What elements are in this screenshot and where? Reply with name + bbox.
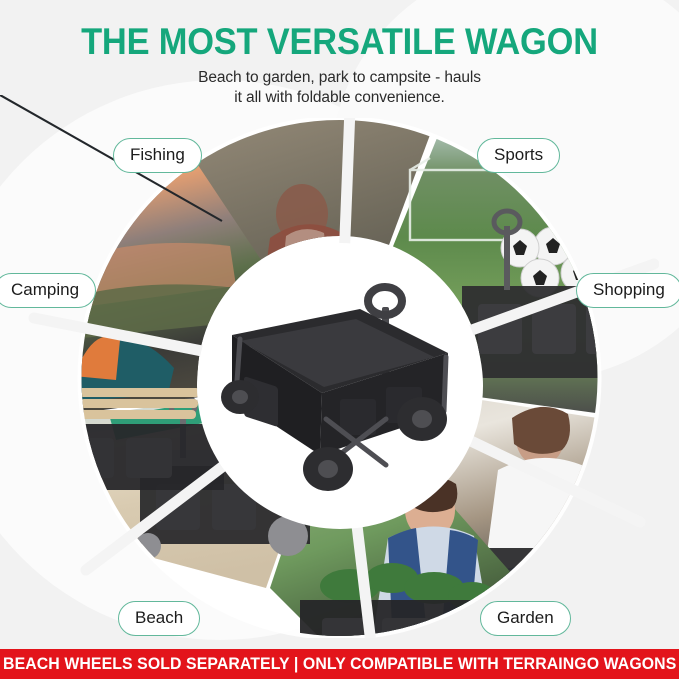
use-case-label-fishing[interactable]: Fishing xyxy=(113,138,202,173)
use-case-label-garden[interactable]: Garden xyxy=(480,601,571,636)
infographic-canvas: THE MOST VERSATILE WAGON Beach to garden… xyxy=(0,0,679,679)
header: THE MOST VERSATILE WAGON Beach to garden… xyxy=(0,0,679,108)
use-case-label-shopping[interactable]: Shopping xyxy=(576,273,679,308)
center-wagon-image xyxy=(210,269,470,499)
page-title: THE MOST VERSATILE WAGON xyxy=(24,0,655,62)
subtitle-line-2: it all with foldable convenience. xyxy=(130,88,550,108)
use-case-label-camping[interactable]: Camping xyxy=(0,273,96,308)
page-subtitle: Beach to garden, park to campsite - haul… xyxy=(130,68,550,108)
use-case-label-sports[interactable]: Sports xyxy=(477,138,560,173)
firewood xyxy=(72,388,200,419)
footer-notice-text: BEACH WHEELS SOLD SEPARATELY | ONLY COMP… xyxy=(3,655,676,674)
footer-notice-banner: BEACH WHEELS SOLD SEPARATELY | ONLY COMP… xyxy=(0,649,679,679)
subtitle-line-1: Beach to garden, park to campsite - haul… xyxy=(130,68,550,88)
use-case-label-beach[interactable]: Beach xyxy=(118,601,200,636)
